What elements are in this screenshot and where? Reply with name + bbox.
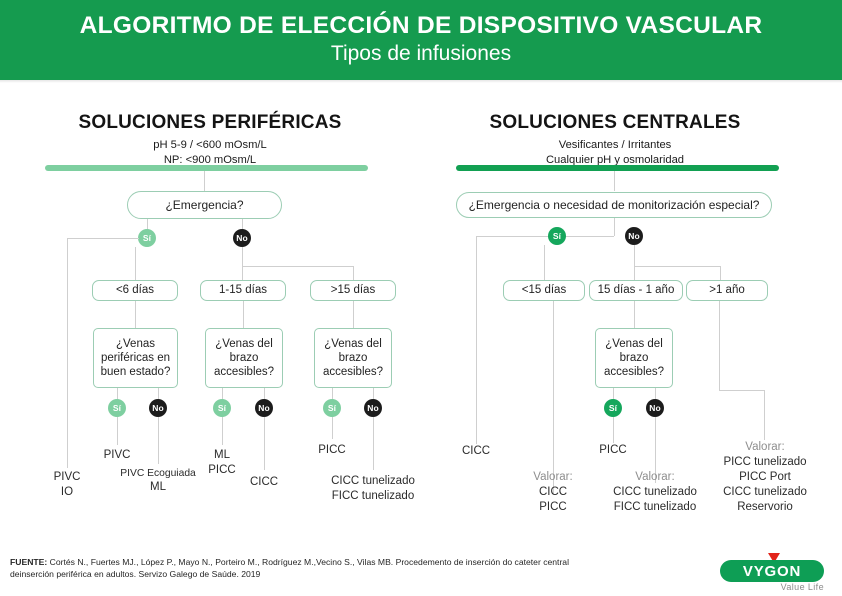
badge-left-q2-yes: Sí	[323, 399, 341, 417]
vygon-logo[interactable]: VYGON Value Life	[716, 552, 828, 592]
connector-right-rule-to-root	[614, 171, 615, 191]
page-subtitle: Tipos de infusiones	[331, 42, 511, 67]
connector-left-q0-no-down	[158, 417, 159, 464]
leaf-text: FICC tunelizado	[308, 489, 438, 504]
column-header-perifericas: SOLUCIONES PERIFÉRICAS pH 5-9 / <600 mOs…	[45, 112, 375, 168]
connector-left-no-horizontal	[242, 266, 353, 267]
badge-right-root-no: No	[625, 227, 643, 245]
connector-left-q2-no-down	[373, 417, 374, 470]
badge-left-q0-yes: Sí	[108, 399, 126, 417]
leaf-text: CICC	[436, 444, 516, 459]
badge-right-root-yes: Sí	[548, 227, 566, 245]
node-left-duration-0[interactable]: <6 días	[92, 280, 178, 301]
banner-shadow	[0, 80, 842, 83]
page-title: ALGORITMO DE ELECCIÓN DE DISPOSITIVO VAS…	[80, 13, 763, 39]
leaf-right-long: Valorar: PICC tunelizado PICC Port CICC …	[700, 440, 830, 515]
leaf-left-g1-no: CICC	[224, 475, 304, 490]
logo-tagline: Value Life	[716, 582, 824, 592]
logo-wordmark: VYGON	[743, 563, 801, 580]
node-left-question-2[interactable]: ¿Venas del brazo accesibles?	[314, 328, 392, 388]
connector-right-q-yes-down	[613, 417, 614, 443]
leaf-left-emergency: PIVC IO	[27, 470, 107, 500]
leaf-right-short: Valorar: CICC PICC	[513, 470, 593, 515]
leaf-text: PICC	[292, 443, 372, 458]
connector-left-no-to-1-15	[242, 266, 243, 280]
node-left-duration-2[interactable]: >15 días	[310, 280, 396, 301]
connector-right-gt1y-down	[719, 301, 720, 390]
connector-left-q2-yes-down	[332, 417, 333, 439]
leaf-text: PICC	[573, 443, 653, 458]
leaf-text: CICC tunelizado	[308, 474, 438, 489]
badge-left-q1-yes: Sí	[213, 399, 231, 417]
leaf-text: ML	[182, 448, 262, 463]
leaf-left-g2-yes: PICC	[292, 443, 372, 458]
column-subtitle-perifericas: pH 5-9 / <600 mOsm/L NP: <900 mOsm/L	[45, 138, 375, 168]
divider-rule-perifericas	[45, 165, 368, 171]
connector-right-yes-to-lt15	[544, 245, 545, 280]
connector-left-q1-yes-down	[222, 417, 223, 445]
connector-left-no-to-gt15	[353, 266, 354, 280]
node-left-root-question[interactable]: ¿Emergencia?	[127, 191, 282, 219]
connector-left-q1-no-down	[264, 417, 265, 470]
connector-right-gt1y-horizontal	[719, 390, 765, 391]
node-left-question-0[interactable]: ¿Venas periféricas en buen estado?	[93, 328, 178, 388]
leaf-right-emergency: CICC	[436, 444, 516, 459]
leaf-text: ML	[108, 480, 208, 495]
column-sub-line1: pH 5-9 / <600 mOsm/L	[45, 138, 375, 153]
node-right-duration-0[interactable]: <15 días	[503, 280, 585, 301]
leaf-text: PICC Port	[700, 470, 830, 485]
leaf-header: Valorar:	[700, 440, 830, 455]
column-header-centrales: SOLUCIONES CENTRALES Vesificantes / Irri…	[450, 112, 780, 168]
leaf-text: IO	[27, 485, 107, 500]
leaf-left-g2-no: CICC tunelizado FICC tunelizado	[308, 474, 438, 504]
source-citation: FUENTE: Cortés N., Fuertes MJ., López P.…	[10, 556, 570, 581]
column-title-centrales: SOLUCIONES CENTRALES	[450, 112, 780, 134]
connector-right-no-horizontal	[634, 266, 720, 267]
connector-right-mid-to-question	[634, 301, 635, 328]
leaf-left-g1-yes: ML PICC	[182, 448, 262, 478]
connector-left-d0-q0	[135, 301, 136, 328]
node-left-question-1[interactable]: ¿Venas del brazo accesibles?	[205, 328, 283, 388]
column-subtitle-centrales: Vesificantes / Irritantes Cualquier pH y…	[450, 138, 780, 168]
badge-left-root-yes: Sí	[138, 229, 156, 247]
leaf-text: CICC tunelizado	[700, 485, 830, 500]
connector-right-yes-horizontal	[476, 236, 548, 237]
connector-left-yes-down	[67, 238, 68, 468]
connector-right-lt15-down	[553, 301, 554, 494]
header-banner: ALGORITMO DE ELECCIÓN DE DISPOSITIVO VAS…	[0, 0, 842, 80]
badge-right-q-yes: Sí	[604, 399, 622, 417]
source-text: Cortés N., Fuertes MJ., López P., Mayo N…	[10, 557, 569, 579]
leaf-text: PICC	[513, 500, 593, 515]
leaf-text: CICC	[513, 485, 593, 500]
connector-right-no-to-gt1y	[720, 266, 721, 280]
connector-left-d2-q2	[353, 301, 354, 328]
node-right-duration-2[interactable]: >1 año	[686, 280, 768, 301]
column-title-perifericas: SOLUCIONES PERIFÉRICAS	[45, 112, 375, 134]
leaf-header: Valorar:	[513, 470, 593, 485]
leaf-text: Reservorio	[700, 500, 830, 515]
infographic-root: ALGORITMO DE ELECCIÓN DE DISPOSITIVO VAS…	[0, 0, 842, 596]
connector-left-q0-yes-down	[117, 417, 118, 445]
connector-left-yes-to-lt6	[135, 247, 136, 280]
node-right-root-question[interactable]: ¿Emergencia o necesidad de monitorizació…	[456, 192, 772, 218]
leaf-text: PIVC	[77, 448, 157, 463]
connector-right-no-to-mid	[634, 266, 635, 280]
connector-right-yes-down	[476, 236, 477, 444]
column-sub-line1-centrales: Vesificantes / Irritantes	[450, 138, 780, 153]
connector-left-rule-to-root	[204, 171, 205, 191]
leaf-text: PICC tunelizado	[700, 455, 830, 470]
leaf-text: CICC	[224, 475, 304, 490]
node-right-duration-1[interactable]: 15 días - 1 año	[589, 280, 683, 301]
leaf-right-mid-yes: PICC	[573, 443, 653, 458]
badge-left-q0-no: No	[149, 399, 167, 417]
badge-right-q-no: No	[646, 399, 664, 417]
source-label: FUENTE:	[10, 557, 47, 567]
badge-left-q2-no: No	[364, 399, 382, 417]
connector-right-gt1y-down2	[764, 390, 765, 440]
connector-left-yes-horizontal	[67, 238, 139, 239]
leaf-left-g0-yes: PIVC	[77, 448, 157, 463]
node-right-question[interactable]: ¿Venas del brazo accesibles?	[595, 328, 673, 388]
connector-left-d1-q1	[243, 301, 244, 328]
leaf-text: PIVC	[27, 470, 107, 485]
badge-left-q1-no: No	[255, 399, 273, 417]
badge-left-root-no: No	[233, 229, 251, 247]
divider-rule-centrales	[456, 165, 779, 171]
node-left-duration-1[interactable]: 1-15 días	[200, 280, 286, 301]
logo-pill: VYGON	[720, 560, 824, 582]
connector-right-root-down	[614, 218, 615, 236]
